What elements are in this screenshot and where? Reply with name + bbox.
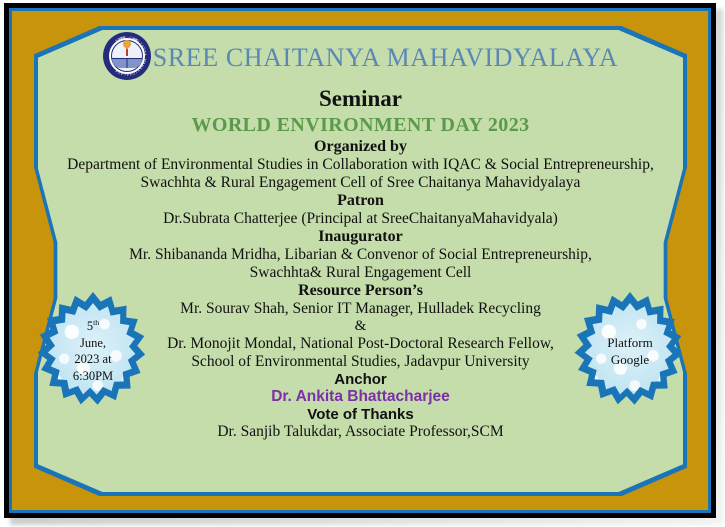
date-badge-month: June, <box>80 335 106 352</box>
date-starburst-badge: 5th June, 2023 at 6:30PM <box>38 292 152 410</box>
patron-label: Patron <box>38 192 683 210</box>
inaugurator-label: Inaugurator <box>38 228 683 246</box>
inaugurator-line-1: Mr. Shibananda Mridha, Libarian & Conven… <box>38 246 683 264</box>
college-logo-icon: SREE CHAITANYA MAHAVIDYALAYA1955 - 1961 <box>103 32 151 80</box>
platform-starburst-badge: Platform Google <box>571 292 683 410</box>
platform-badge-text: Platform Google <box>571 292 683 410</box>
patron-name: Dr.Subrata Chatterjee (Principal at Sree… <box>38 210 683 228</box>
organized-by-line-2: Swachhta & Rural Engagement Cell of Sree… <box>38 174 683 192</box>
vote-of-thanks-name: Dr. Sanjib Talukdar, Associate Professor… <box>38 423 683 441</box>
inaugurator-line-2: Swachhta& Rural Engagement Cell <box>38 264 683 282</box>
platform-badge-line-1: Platform <box>607 334 653 351</box>
event-poster: SREE CHAITANYA MAHAVIDYALAYA1955 - 1961 … <box>0 0 725 527</box>
poster-content: SREE CHAITANYA MAHAVIDYALAYA1955 - 1961 … <box>38 30 683 492</box>
date-badge-day-row: 5th <box>87 318 99 335</box>
date-badge-time: 6:30PM <box>73 368 113 385</box>
event-title-heading: WORLD ENVIRONMENT DAY 2023 <box>38 114 683 137</box>
organized-by-line-1: Department of Environmental Studies in C… <box>38 156 683 174</box>
date-badge-day-suffix: th <box>93 318 99 327</box>
date-badge-text: 5th June, 2023 at 6:30PM <box>38 292 152 410</box>
platform-badge-line-2: Google <box>611 351 649 368</box>
poster-header: SREE CHAITANYA MAHAVIDYALAYA1955 - 1961 … <box>38 30 683 86</box>
logo-ring-text: SREE CHAITANYA MAHAVIDYALAYA1955 - 1961 <box>103 32 151 80</box>
date-badge-year: 2023 at <box>74 351 111 368</box>
event-type-heading: Seminar <box>38 86 683 112</box>
organized-by-label: Organized by <box>38 138 683 156</box>
college-name-heading: SREE CHAITANYA MAHAVIDYALAYA <box>153 45 618 71</box>
